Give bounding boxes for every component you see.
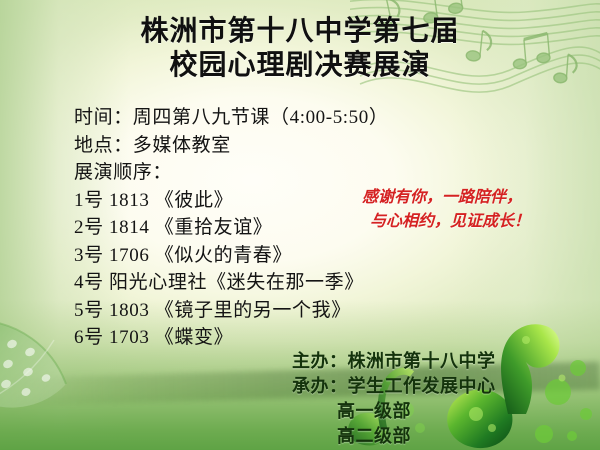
program-item-2: 2号 1814 《重拾友谊》 <box>74 214 389 242</box>
organizer-block: 主办：株洲市第十八中学 承办：学生工作发展中心 高一级部 高二级部 <box>292 349 496 449</box>
page-title: 株洲市第十八中学第七届 校园心理剧决赛展演 <box>0 14 600 82</box>
program-order-heading: 展演顺序： <box>74 159 389 187</box>
title-line-2: 校园心理剧决赛展演 <box>0 48 600 82</box>
program-item-3: 3号 1706 《似火的青春》 <box>74 242 389 270</box>
program-item-5: 5号 1803 《镜子里的另一个我》 <box>74 297 389 325</box>
organizer-grade-2: 高二级部 <box>292 424 496 449</box>
program-item-4: 4号 阳光心理社《迷失在那一季》 <box>74 269 389 297</box>
event-details: 时间：周四第八九节课（4:00-5:50） 地点：多媒体教室 展演顺序： 1号 … <box>74 104 389 352</box>
event-time: 时间：周四第八九节课（4:00-5:50） <box>74 104 389 132</box>
presentation-slide: 株洲市第十八中学第七届 校园心理剧决赛展演 时间：周四第八九节课（4:00-5:… <box>0 0 600 450</box>
title-line-1: 株洲市第十八中学第七届 <box>0 14 600 48</box>
organizer-coordinator: 承办：学生工作发展中心 <box>292 374 496 399</box>
slogan: 感谢有你，一路陪伴， 与心相约，见证成长！ <box>362 186 530 234</box>
slogan-line-1: 感谢有你，一路陪伴， <box>362 186 530 210</box>
program-item-6: 6号 1703 《蝶变》 <box>74 324 389 352</box>
program-item-1: 1号 1813 《彼此》 <box>74 187 389 215</box>
organizer-grade-1: 高一级部 <box>292 399 496 424</box>
event-place: 地点：多媒体教室 <box>74 132 389 160</box>
slogan-line-2: 与心相约，见证成长！ <box>362 210 530 234</box>
organizer-host: 主办：株洲市第十八中学 <box>292 349 496 374</box>
